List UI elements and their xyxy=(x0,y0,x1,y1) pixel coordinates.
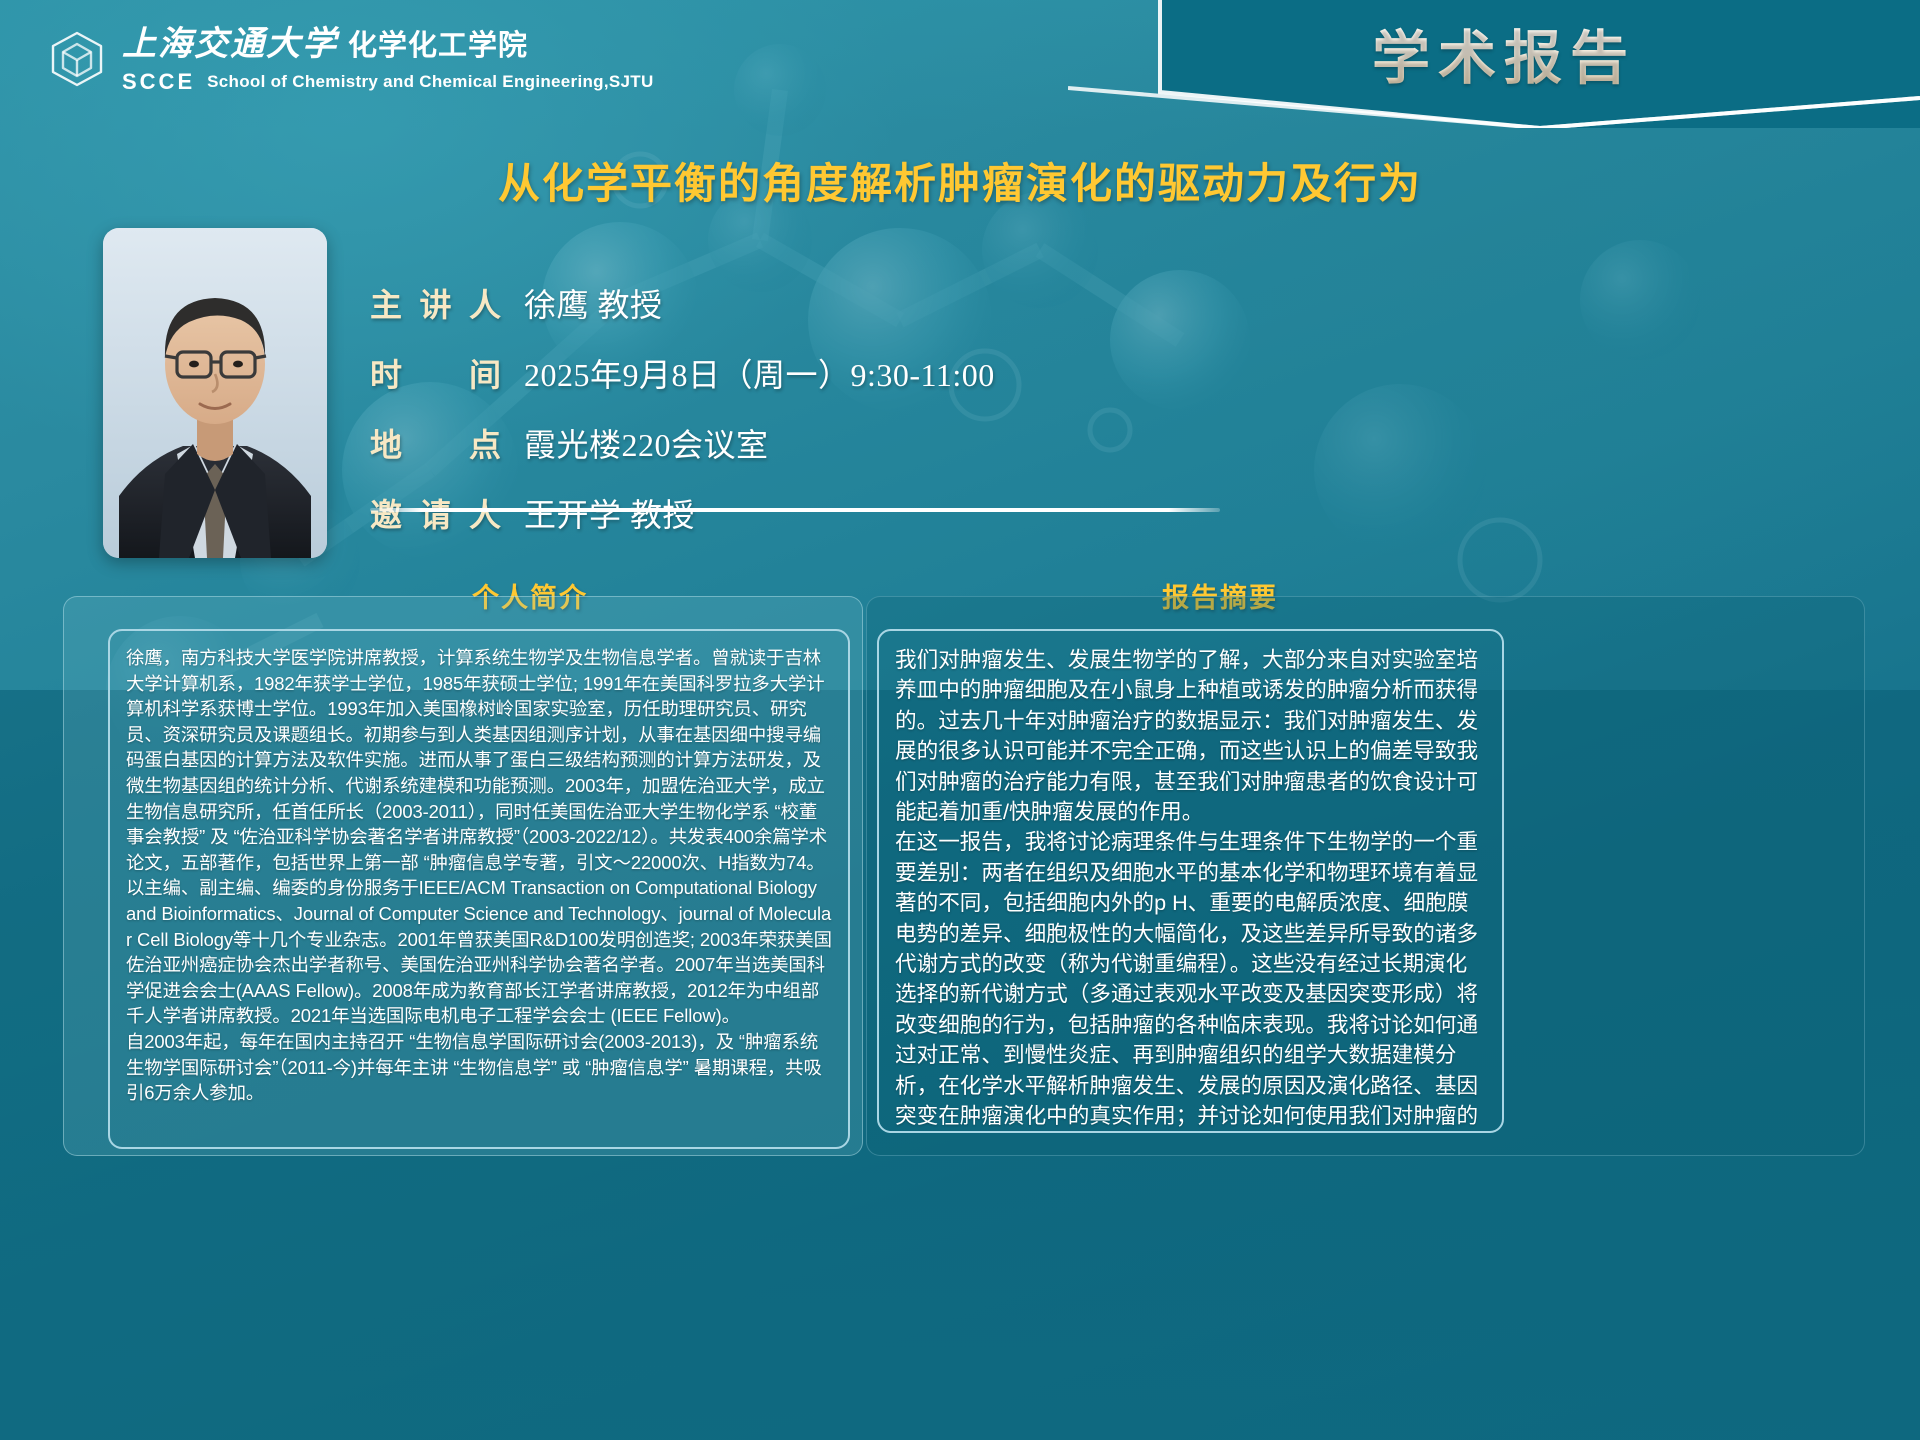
section-divider xyxy=(370,508,1220,512)
label-char: 点 xyxy=(469,420,502,466)
sjtu-scce-logo: 上海交通大学 化学化工学院 SCCE School of Chemistry a… xyxy=(46,26,654,98)
bio-panel: 徐鹰，南方科技大学医学院讲席教授，计算系统生物学及生物信息学者。曾就读于吉林大学… xyxy=(108,629,850,1149)
logo-english-name: School of Chemistry and Chemical Enginee… xyxy=(207,72,653,92)
label-char: 间 xyxy=(469,350,502,396)
label-char: 请 xyxy=(419,490,452,536)
logo-school-name: 化学化工学院 xyxy=(348,31,528,63)
abstract-text: 我们对肿瘤发生、发展生物学的了解，大部分来自对实验室培养皿中的肿瘤细胞及在小鼠身… xyxy=(895,645,1486,1133)
label-char: 邀 xyxy=(370,490,403,536)
banner-title: 学术报告 xyxy=(1068,0,1920,128)
label-char: 人 xyxy=(469,280,502,326)
info-label-speaker: 主 讲 人 xyxy=(370,280,502,326)
page-title: 从化学平衡的角度解析肿瘤演化的驱动力及行为 xyxy=(0,150,1920,211)
info-row-time: 时 间 2025年9月8日（周一）9:30-11:00 xyxy=(370,350,1270,396)
label-char: 人 xyxy=(469,490,502,536)
info-label-time: 时 间 xyxy=(370,350,502,396)
info-label-inviter: 邀 请 人 xyxy=(370,490,502,536)
abstract-panel: 我们对肿瘤发生、发展生物学的了解，大部分来自对实验室培养皿中的肿瘤细胞及在小鼠身… xyxy=(877,629,1504,1133)
label-char: 时 xyxy=(370,350,403,396)
logo-abbreviation: SCCE xyxy=(122,69,195,95)
academic-report-banner: 学术报告 xyxy=(1068,0,1920,128)
info-value-speaker: 徐鹰 教授 xyxy=(524,280,663,326)
info-row-inviter: 邀 请 人 王开学 教授 xyxy=(370,490,1270,536)
bio-text: 徐鹰，南方科技大学医学院讲席教授，计算系统生物学及生物信息学者。曾就读于吉林大学… xyxy=(126,645,832,1106)
seminar-poster: 上海交通大学 化学化工学院 SCCE School of Chemistry a… xyxy=(0,0,1920,1440)
speaker-portrait xyxy=(103,228,327,558)
info-row-location: 地 点 霞光楼220会议室 xyxy=(370,420,1270,466)
info-value-inviter: 王开学 教授 xyxy=(524,490,695,536)
label-char: 地 xyxy=(370,420,403,466)
portrait-photo-illustration xyxy=(103,228,327,558)
scce-hexagon-logo-icon xyxy=(46,28,108,98)
info-label-location: 地 点 xyxy=(370,420,502,466)
seminar-info-list: 主 讲 人 徐鹰 教授 时 间 2025年9月8日（周一）9:30-11:00 … xyxy=(370,280,1270,560)
label-char: 讲 xyxy=(419,280,452,326)
info-value-time: 2025年9月8日（周一）9:30-11:00 xyxy=(524,350,995,396)
logo-university-name: 上海交通大学 xyxy=(122,26,338,63)
info-row-speaker: 主 讲 人 徐鹰 教授 xyxy=(370,280,1270,326)
label-char: 主 xyxy=(370,280,403,326)
info-value-location: 霞光楼220会议室 xyxy=(524,420,769,466)
